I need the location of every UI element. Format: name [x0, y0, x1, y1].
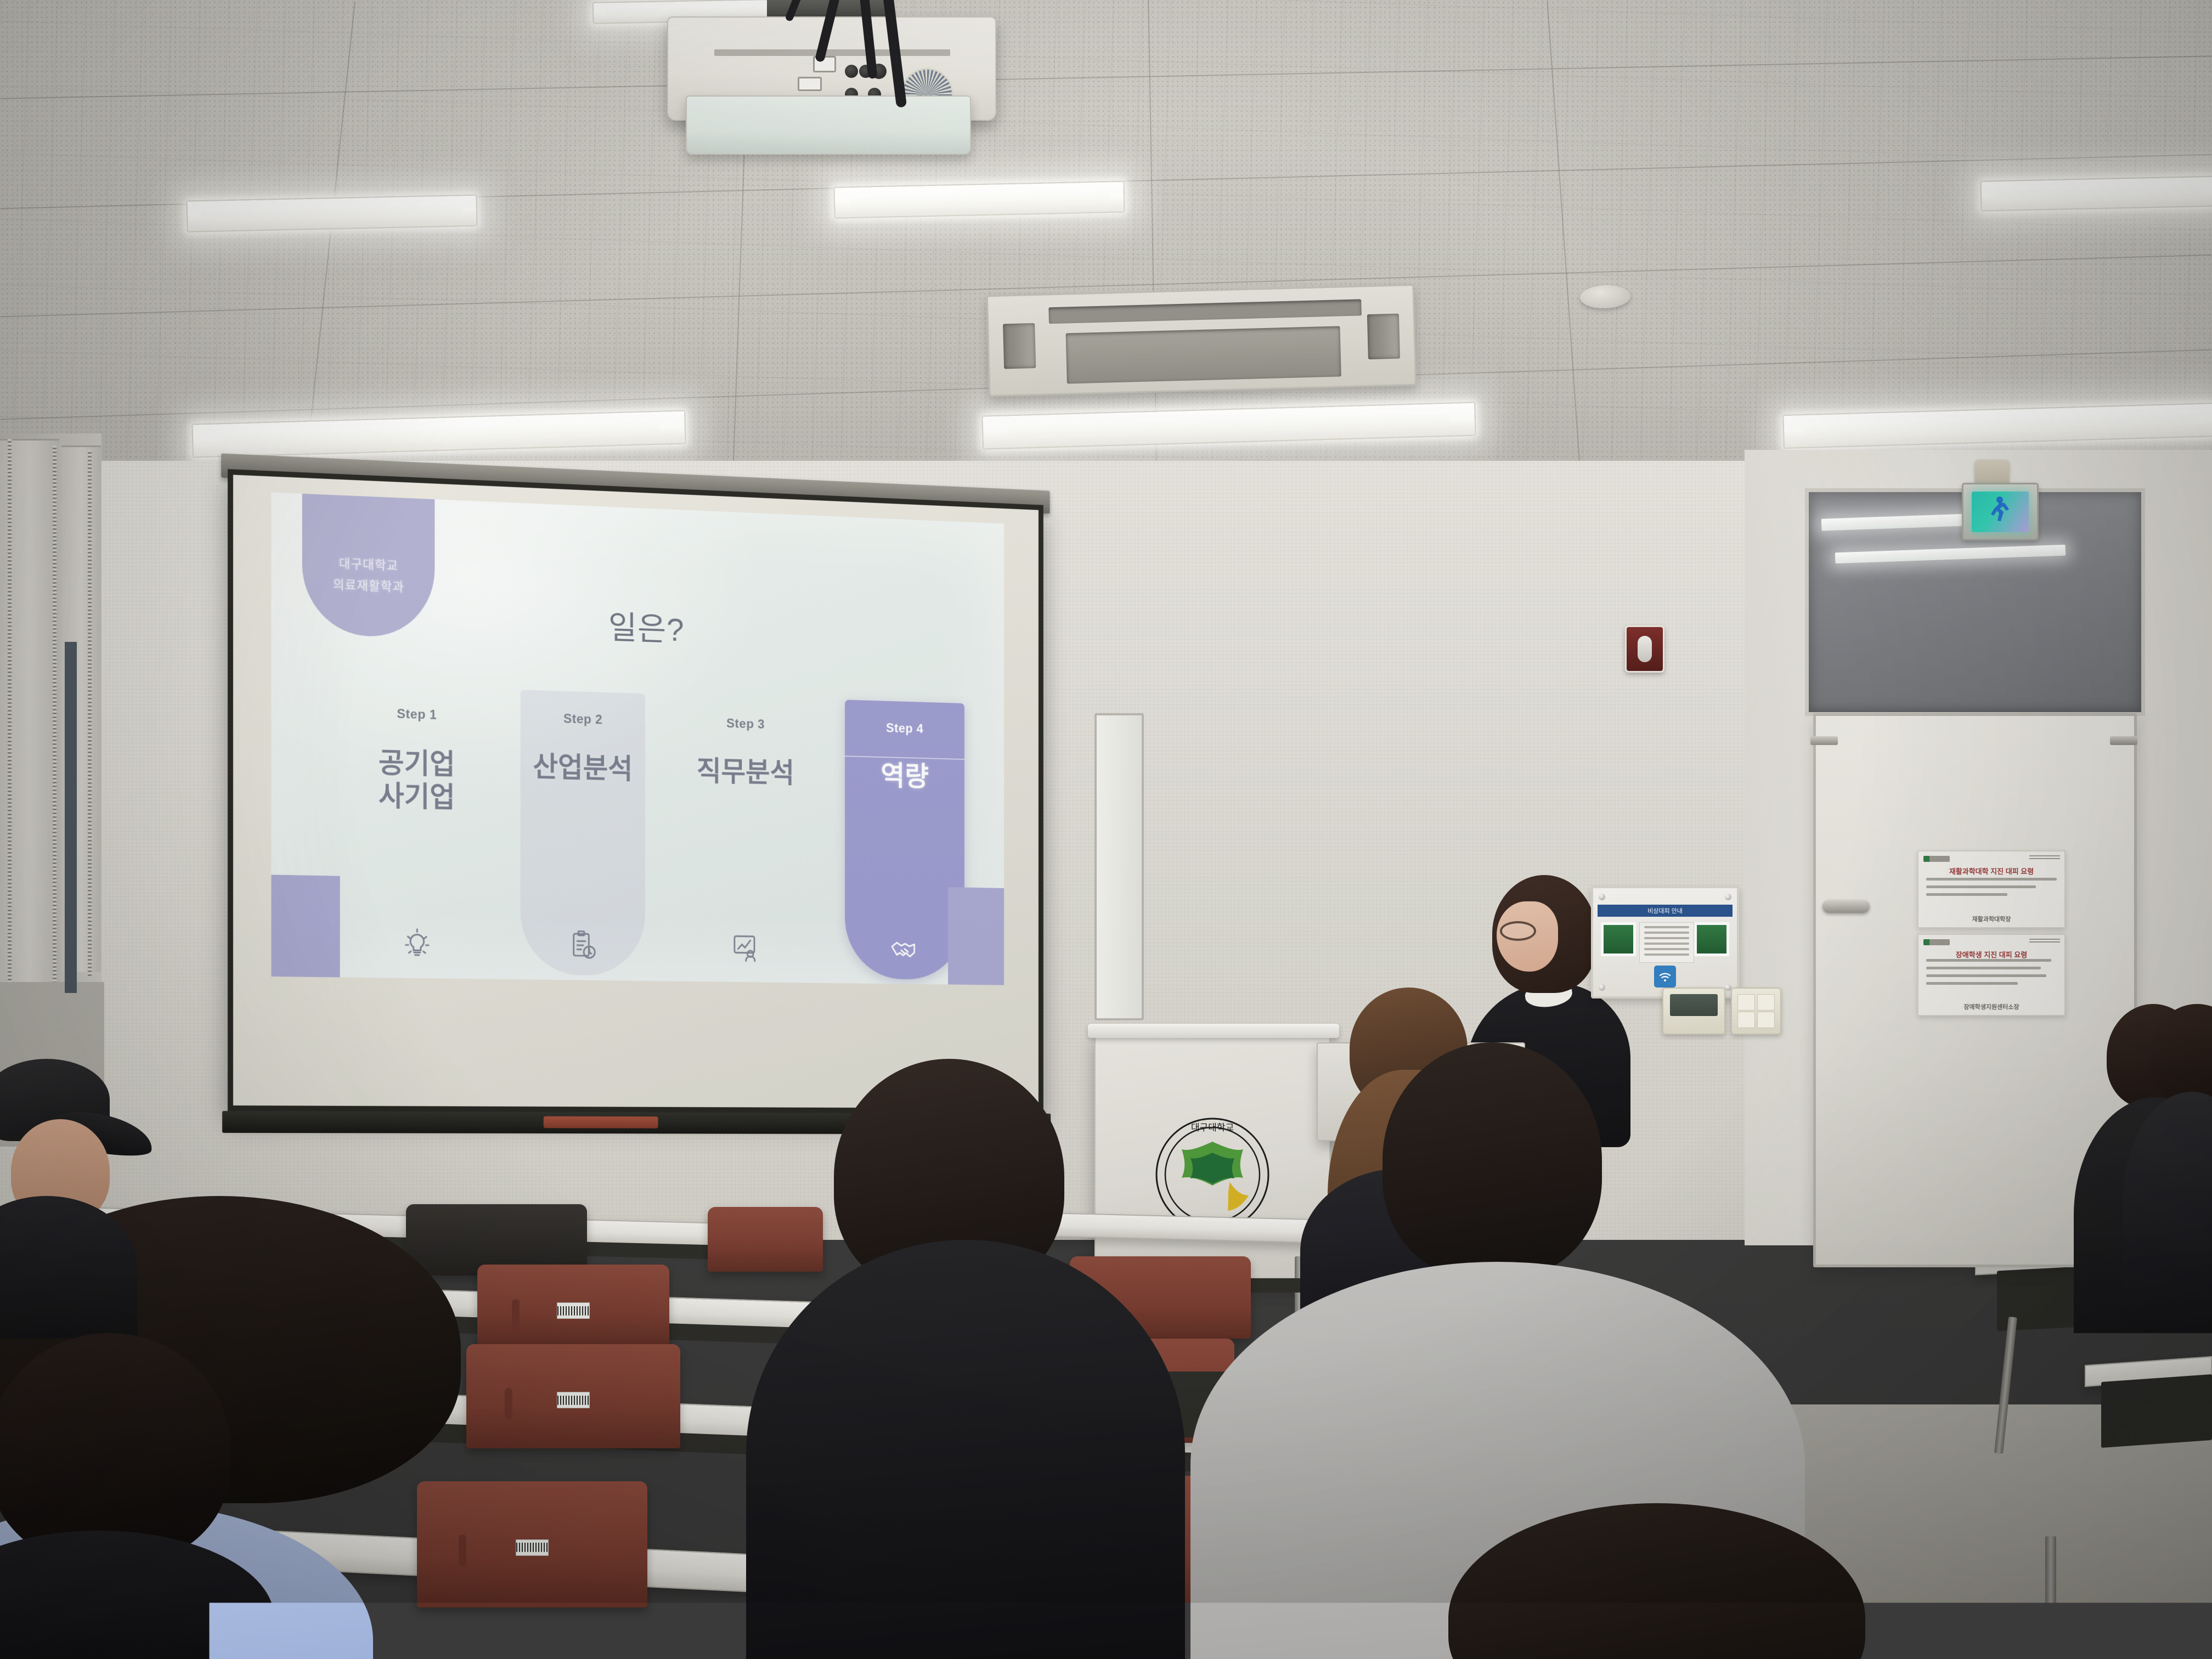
step-2-label: Step 2 — [563, 712, 602, 727]
chair-asset-barcode — [557, 1302, 590, 1319]
door-hinge — [2110, 736, 2137, 745]
blind-chain-pull[interactable] — [8, 439, 12, 1020]
handshake-icon — [889, 933, 921, 966]
notice-1-footer: 재활과학대학장 — [1918, 915, 2064, 923]
ceiling — [0, 0, 2212, 483]
audience-member-far-right — [2129, 1004, 2212, 1289]
info-panel-header: 비상대피 안내 — [1598, 905, 1733, 917]
slide-step-4: Step 4 역량 — [826, 708, 983, 980]
door-hinge — [1810, 736, 1838, 745]
info-panel-text-block — [1639, 922, 1694, 963]
ceiling-cassette-ac — [986, 284, 1417, 397]
lightbulb-icon — [400, 926, 433, 960]
presentation-slide: 대구대학교 의료재활학과 일은? Step 1 공기업 사기업 — [271, 492, 1004, 985]
audience-member-center — [763, 1059, 1158, 1659]
thermostat[interactable] — [1662, 988, 1725, 1035]
slide-logo-line1: 대구대학교 — [339, 553, 398, 574]
ceiling-light — [1980, 176, 2212, 212]
step-4-name: 역량 — [881, 760, 928, 794]
whiteboard — [1094, 713, 1144, 1020]
info-panel-photo — [1601, 922, 1636, 956]
step-1-name-line1: 공기업 — [379, 747, 455, 782]
chair-asset-barcode — [557, 1392, 590, 1408]
step-3-label: Step 3 — [726, 716, 765, 732]
blind-chain-pull[interactable] — [88, 450, 92, 977]
slide-step-2: Step 2 산업분석 — [500, 698, 665, 977]
window-frame-gap — [65, 642, 77, 993]
side-desk-leg — [2045, 1536, 2056, 1659]
emergency-exit-sign — [1962, 483, 2039, 540]
screen-frame: 대구대학교 의료재활학과 일은? Step 1 공기업 사기업 — [228, 469, 1043, 1114]
slide-step-3: Step 3 직무분석 — [665, 703, 826, 979]
lecture-hall-photo: 대구대학교 의료재활학과 일은? Step 1 공기업 사기업 — [0, 0, 2212, 1659]
step-1-name: 공기업 사기업 — [379, 747, 455, 815]
audience-member-cap — [0, 1059, 159, 1311]
slide-steps-row: Step 1 공기업 사기업 — [332, 693, 983, 980]
projector-port-usb — [798, 77, 822, 91]
notice-earthquake-disabled-students: 장애학생 지진 대피 요령 장애학생지원센터소장 — [1917, 934, 2066, 1016]
fire-alarm-button[interactable] — [1625, 625, 1664, 673]
slide-step-1: Step 1 공기업 사기업 — [332, 693, 500, 975]
wifi-icon — [1654, 966, 1676, 988]
ceiling-light — [186, 194, 477, 232]
screen-pull-handle[interactable] — [544, 1116, 658, 1128]
light-switch-plate[interactable] — [1731, 988, 1781, 1035]
chart-person-icon — [730, 931, 761, 964]
notice-1-title: 재활과학대학 지진 대피 요령 — [1918, 866, 2064, 876]
wall-notices: 재활과학대학 지진 대피 요령 재활과학대학장 장애학생 지진 대피 요령 장애… — [1917, 850, 2066, 1015]
podium-top-surface — [1088, 1024, 1339, 1038]
blind-chain-pull[interactable] — [53, 445, 57, 994]
screen-surface: 대구대학교 의료재활학과 일은? Step 1 공기업 사기업 — [233, 475, 1039, 1108]
step-1-name-line2: 사기업 — [379, 780, 455, 815]
notice-2-footer: 장애학생지원센터소장 — [1918, 1002, 2064, 1011]
wall-info-panel: 비상대피 안내 — [1591, 886, 1739, 998]
info-panel-header-text: 비상대피 안내 — [1647, 906, 1683, 915]
projector-audio-jack — [845, 65, 858, 78]
slide-title: 일은? — [271, 589, 1004, 662]
presenter-glasses — [1500, 921, 1536, 941]
step-2-name: 산업분석 — [533, 751, 633, 787]
step-4-divider — [845, 755, 964, 760]
ceiling-light — [833, 180, 1125, 218]
step-1-label: Step 1 — [397, 707, 437, 723]
notice-earthquake-college: 재활과학대학 지진 대피 요령 재활과학대학장 — [1917, 850, 2066, 928]
projector-lens-housing — [686, 95, 971, 155]
info-panel-photo — [1694, 922, 1729, 956]
step-4-label: Step 4 — [886, 721, 923, 737]
clipboard-clock-icon — [567, 929, 599, 962]
audience-member-left-mid — [0, 1333, 274, 1659]
projection-screen: 대구대학교 의료재활학과 일은? Step 1 공기업 사기업 — [228, 469, 1043, 1114]
door-handle[interactable] — [1822, 900, 1870, 913]
ceiling-projector — [667, 0, 996, 156]
audience-member-front — [1448, 1503, 1887, 1659]
step-3-name: 직무분석 — [697, 755, 794, 791]
notice-2-title: 장애학생 지진 대피 요령 — [1918, 949, 2064, 960]
